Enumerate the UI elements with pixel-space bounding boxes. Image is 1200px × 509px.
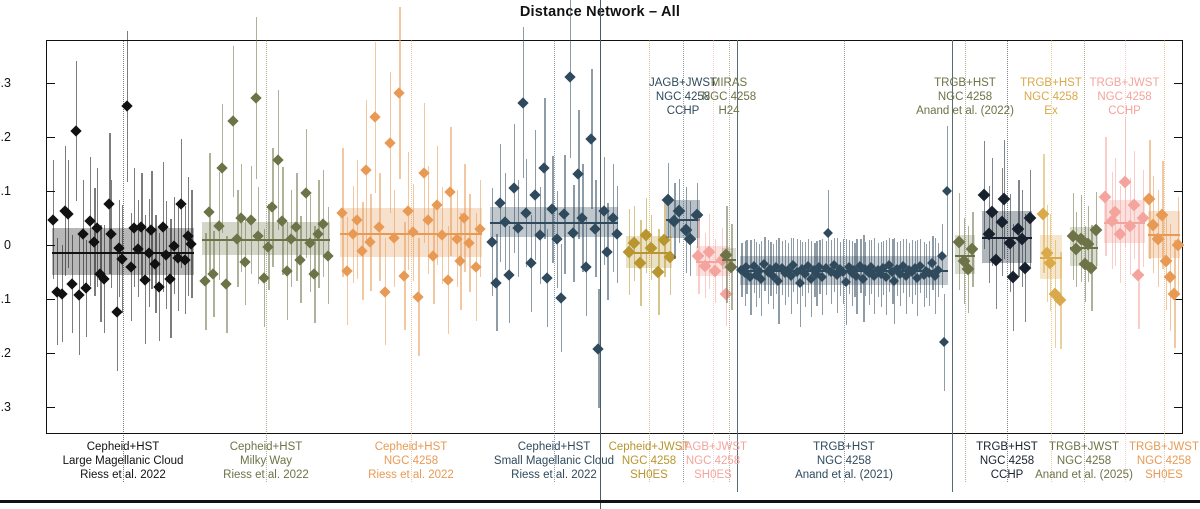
group-mean-line: [982, 237, 1032, 239]
data-group-cepheid-hst-ngc4258[interactable]: [340, 40, 482, 434]
group-mean-line: [1104, 222, 1145, 224]
group-label-line: NGC 4258: [764, 454, 924, 468]
group-label-line: MIRAS: [649, 76, 809, 90]
data-point-marker[interactable]: [384, 137, 395, 148]
group-mean-line: [955, 255, 975, 257]
group-label-line: TRGB+HST: [764, 440, 924, 454]
data-point-marker[interactable]: [997, 193, 1010, 206]
y-tick-label: 0.2: [0, 130, 11, 144]
data-point-marker[interactable]: [1132, 268, 1145, 281]
data-point-marker[interactable]: [273, 154, 284, 165]
data-point-marker[interactable]: [529, 189, 540, 200]
group-label-trgb-jwst-ngc4258-cchp: TRGB+JWSTNGC 4258CCHP: [1045, 76, 1200, 118]
data-point-marker[interactable]: [823, 228, 833, 238]
group-label-line: NGC 4258: [649, 90, 809, 104]
data-point-marker[interactable]: [564, 72, 575, 83]
data-point-marker[interactable]: [539, 163, 550, 174]
data-point-marker[interactable]: [593, 343, 604, 354]
group-label-line: Riess et al. 2022: [43, 468, 203, 482]
group-label-line: SH0ES: [1084, 468, 1200, 482]
group-label-line: Riess et al. 2022: [186, 468, 346, 482]
group-mean-line: [52, 252, 194, 254]
data-point-marker[interactable]: [379, 286, 390, 297]
group-label-line: Cepheid+HST: [331, 440, 491, 454]
group-mean-line: [1070, 247, 1098, 249]
data-point-marker[interactable]: [200, 276, 211, 287]
group-label-line: H24: [649, 104, 809, 118]
group-mean-line: [722, 259, 736, 261]
data-point-marker[interactable]: [445, 186, 456, 197]
y-tick-label: 0.3: [0, 76, 11, 90]
data-point-marker[interactable]: [399, 270, 410, 281]
group-label-line: TRGB+JWST: [1045, 76, 1200, 90]
data-group-cepheid-hst-lmc[interactable]: [52, 40, 194, 434]
group-label-trgb-hst-ngc4258-anand2021: TRGB+HSTNGC 4258Anand et al. (2021): [764, 440, 924, 482]
group-mean-line: [340, 233, 482, 235]
data-point-marker[interactable]: [555, 292, 566, 303]
data-point-marker[interactable]: [503, 269, 514, 280]
footer-rule: [0, 500, 1200, 503]
group-label-cepheid-hst-ngc4258: Cepheid+HSTNGC 4258Riess et al. 2022: [331, 440, 491, 482]
group-label-miras-ngc4258-h24: MIRASNGC 4258H24: [649, 76, 809, 118]
y-axis-label: Distance Modulus Residuals: [0, 0, 3, 150]
data-point-marker[interactable]: [67, 278, 78, 289]
y-tick-label: -0.3: [0, 400, 11, 414]
group-label-line: Large Magellanic Cloud: [43, 454, 203, 468]
group-label-line: NGC 4258: [331, 454, 491, 468]
data-point-marker[interactable]: [73, 290, 84, 301]
data-point-marker[interactable]: [442, 274, 453, 285]
group-mean-line: [1148, 234, 1180, 236]
group-mean-line: [666, 219, 700, 221]
data-point-marker[interactable]: [204, 207, 215, 218]
data-group-cepheid-hst-smc[interactable]: [490, 40, 618, 434]
group-label-line: NGC 4258: [1084, 454, 1200, 468]
group-label-trgb-jwst-ngc4258-sh0es: TRGB+JWSTNGC 4258SH0ES: [1084, 440, 1200, 482]
y-tick-label: -0.2: [0, 346, 11, 360]
group-label-line: TRGB+JWST: [1084, 440, 1200, 454]
data-point-marker[interactable]: [104, 198, 115, 209]
data-point-marker[interactable]: [541, 272, 552, 283]
group-center-guide: [266, 40, 267, 482]
group-label-line: Milky Way: [186, 454, 346, 468]
data-point-marker[interactable]: [360, 164, 371, 175]
data-point-marker[interactable]: [216, 163, 227, 174]
group-label-line: CCHP: [1045, 104, 1200, 118]
data-point-marker[interactable]: [939, 337, 949, 347]
data-point-marker[interactable]: [369, 112, 380, 123]
group-label-line: Cepheid+HST: [43, 440, 203, 454]
y-tick-label: 0.1: [0, 184, 11, 198]
data-point-marker[interactable]: [586, 134, 597, 145]
data-point-marker[interactable]: [413, 291, 424, 302]
group-label-line: Anand et al. (2021): [764, 468, 924, 482]
group-mean-line: [740, 270, 948, 272]
y-tick-label: 0: [4, 238, 11, 252]
y-tick-label: -0.1: [0, 292, 11, 306]
data-point-marker[interactable]: [221, 279, 232, 290]
data-point-marker[interactable]: [517, 97, 528, 108]
group-label-cepheid-hst-lmc: Cepheid+HSTLarge Magellanic CloudRiess e…: [43, 440, 203, 482]
group-center-guide: [844, 40, 845, 482]
data-point-marker[interactable]: [1006, 271, 1019, 284]
group-label-line: Riess et al. 2022: [331, 468, 491, 482]
chart-root: Distance Network – All Distance Modulus …: [0, 0, 1200, 509]
data-point-marker[interactable]: [227, 116, 238, 127]
group-label-cepheid-hst-milkyway: Cepheid+HSTMilky WayRiess et al. 2022: [186, 440, 346, 482]
group-center-guide: [411, 40, 412, 482]
data-point-marker[interactable]: [394, 87, 405, 98]
data-point-marker[interactable]: [111, 306, 122, 317]
group-label-line: Cepheid+HST: [186, 440, 346, 454]
data-point-marker[interactable]: [70, 125, 81, 136]
group-mean-line: [490, 222, 618, 224]
data-point-marker[interactable]: [250, 92, 261, 103]
group-mean-line: [202, 239, 330, 241]
group-center-guide: [554, 40, 555, 482]
group-mean-line: [1040, 257, 1062, 259]
data-group-cepheid-hst-milkyway[interactable]: [202, 40, 330, 434]
group-label-line: NGC 4258: [1045, 90, 1200, 104]
